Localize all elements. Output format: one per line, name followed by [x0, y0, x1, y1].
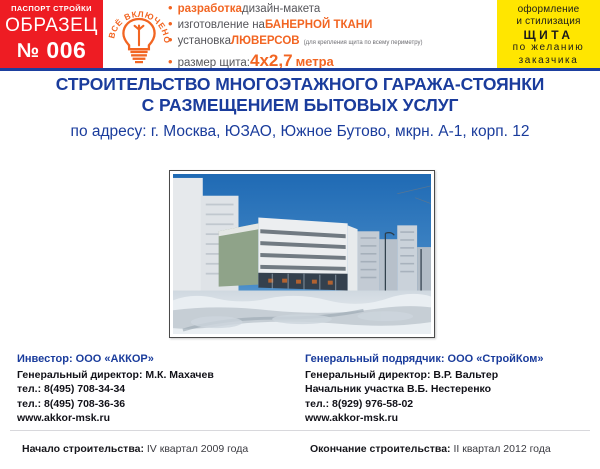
construction-end-label: Окончание строительства:: [310, 443, 451, 455]
feature-design-text: дизайн-макета: [242, 3, 320, 15]
investor-director: Генеральный директор: М.К. Махачев: [17, 368, 297, 383]
contacts-section: Инвестор: ООО «АККОР» Генеральный директ…: [0, 352, 600, 428]
styling-offer-line-1: оформление: [497, 4, 600, 16]
header-divider: [0, 68, 600, 71]
construction-start-value: IV квартал 2009 года: [147, 443, 248, 455]
contractor-phone: тел.: 8(929) 976-58-02: [305, 397, 595, 412]
styling-offer-line-2: и стилизация: [497, 16, 600, 28]
lightbulb-icon: ВСЁ ВКЛЮЧЕНО: [106, 2, 172, 68]
feature-eyelets-text: установка: [178, 35, 231, 47]
feature-eyelets-highlight: ЛЮВЕРСОВ: [231, 35, 300, 47]
investor-phone-2: тел.: 8(495) 708-36-36: [17, 397, 297, 412]
contractor-heading: Генеральный подрядчик: ООО «СтройКом»: [305, 352, 595, 368]
construction-end: Окончание строительства: II квартал 2012…: [310, 442, 551, 456]
number-sign-icon: №: [17, 40, 40, 62]
feature-eyelets-note: (для крепления щита по всему периметру): [304, 40, 423, 46]
feature-item-design: • разработка дизайн-макета: [168, 3, 493, 19]
sample-badge: ПАСПОРТ СТРОЙКИ ОБРАЗЕЦ № 006: [0, 0, 103, 68]
construction-end-value: II квартал 2012 года: [453, 443, 550, 455]
feature-fabric-highlight: БАНЕРНОЙ ТКАНИ: [265, 19, 372, 31]
styling-offer-block: оформление и стилизация ЩИТА по желанию …: [497, 0, 600, 68]
investor-phone-1: тел.: 8(495) 708-34-34: [17, 382, 297, 397]
construction-start-label: Начало строительства:: [22, 443, 144, 455]
bullet-icon: •: [168, 57, 173, 67]
construction-passport-poster: ПАСПОРТ СТРОЙКИ ОБРАЗЕЦ № 006 ВСЁ ВКЛЮЧЕ…: [0, 0, 600, 469]
feature-item-eyelets: • установка ЛЮВЕРСОВ (для крепления щита…: [168, 35, 493, 51]
styling-offer-line-3: ЩИТА: [497, 28, 600, 42]
feature-fabric-text: изготовление на: [178, 19, 265, 31]
sample-badge-number-value: 006: [46, 37, 86, 63]
construction-site-photo: [169, 170, 435, 338]
bullet-icon: •: [168, 35, 173, 45]
construction-dates-footer: Начало строительства: IV квартал 2009 го…: [0, 431, 600, 469]
contractor-block: Генеральный подрядчик: ООО «СтройКом» Ге…: [305, 352, 595, 426]
investor-website[interactable]: www.akkor-msk.ru: [17, 411, 297, 426]
bullet-icon: •: [168, 19, 173, 29]
bullet-icon: •: [168, 3, 173, 13]
sample-badge-word: ОБРАЗЕЦ: [0, 14, 103, 37]
contractor-director: Генеральный директор: В.Р. Вальтер: [305, 368, 595, 383]
styling-offer-line-5: заказчика: [497, 55, 600, 67]
feature-size-unit: метра: [296, 54, 334, 69]
styling-offer-line-4: по желанию: [497, 42, 600, 54]
feature-design-highlight: разработка: [178, 3, 242, 15]
investor-block: Инвестор: ООО «АККОР» Генеральный директ…: [17, 352, 297, 426]
photo-image: [173, 174, 431, 334]
contractor-site-manager: Начальник участка В.Б. Нестеренко: [305, 382, 595, 397]
advert-header-strip: ПАСПОРТ СТРОЙКИ ОБРАЗЕЦ № 006 ВСЁ ВКЛЮЧЕ…: [0, 0, 600, 68]
construction-start: Начало строительства: IV квартал 2009 го…: [22, 442, 248, 456]
contractor-website[interactable]: www.akkor-msk.ru: [305, 411, 595, 426]
investor-heading: Инвестор: ООО «АККОР»: [17, 352, 297, 368]
sample-badge-kicker: ПАСПОРТ СТРОЙКИ: [0, 3, 103, 14]
feature-item-fabric: • изготовление на БАНЕРНОЙ ТКАНИ: [168, 19, 493, 35]
feature-list: • разработка дизайн-макета • изготовлени…: [168, 3, 493, 67]
project-title-line-1: СТРОИТЕЛЬСТВО МНОГОЭТАЖНОГО ГАРАЖА-СТОЯН…: [0, 74, 600, 95]
project-title-block: СТРОИТЕЛЬСТВО МНОГОЭТАЖНОГО ГАРАЖА-СТОЯН…: [0, 74, 600, 141]
sample-badge-number: № 006: [0, 37, 103, 64]
project-title-line-2: С РАЗМЕЩЕНИЕМ БЫТОВЫХ УСЛУГ: [0, 95, 600, 116]
project-address: по адресу: г. Москва, ЮЗАО, Южное Бутово…: [0, 122, 600, 141]
